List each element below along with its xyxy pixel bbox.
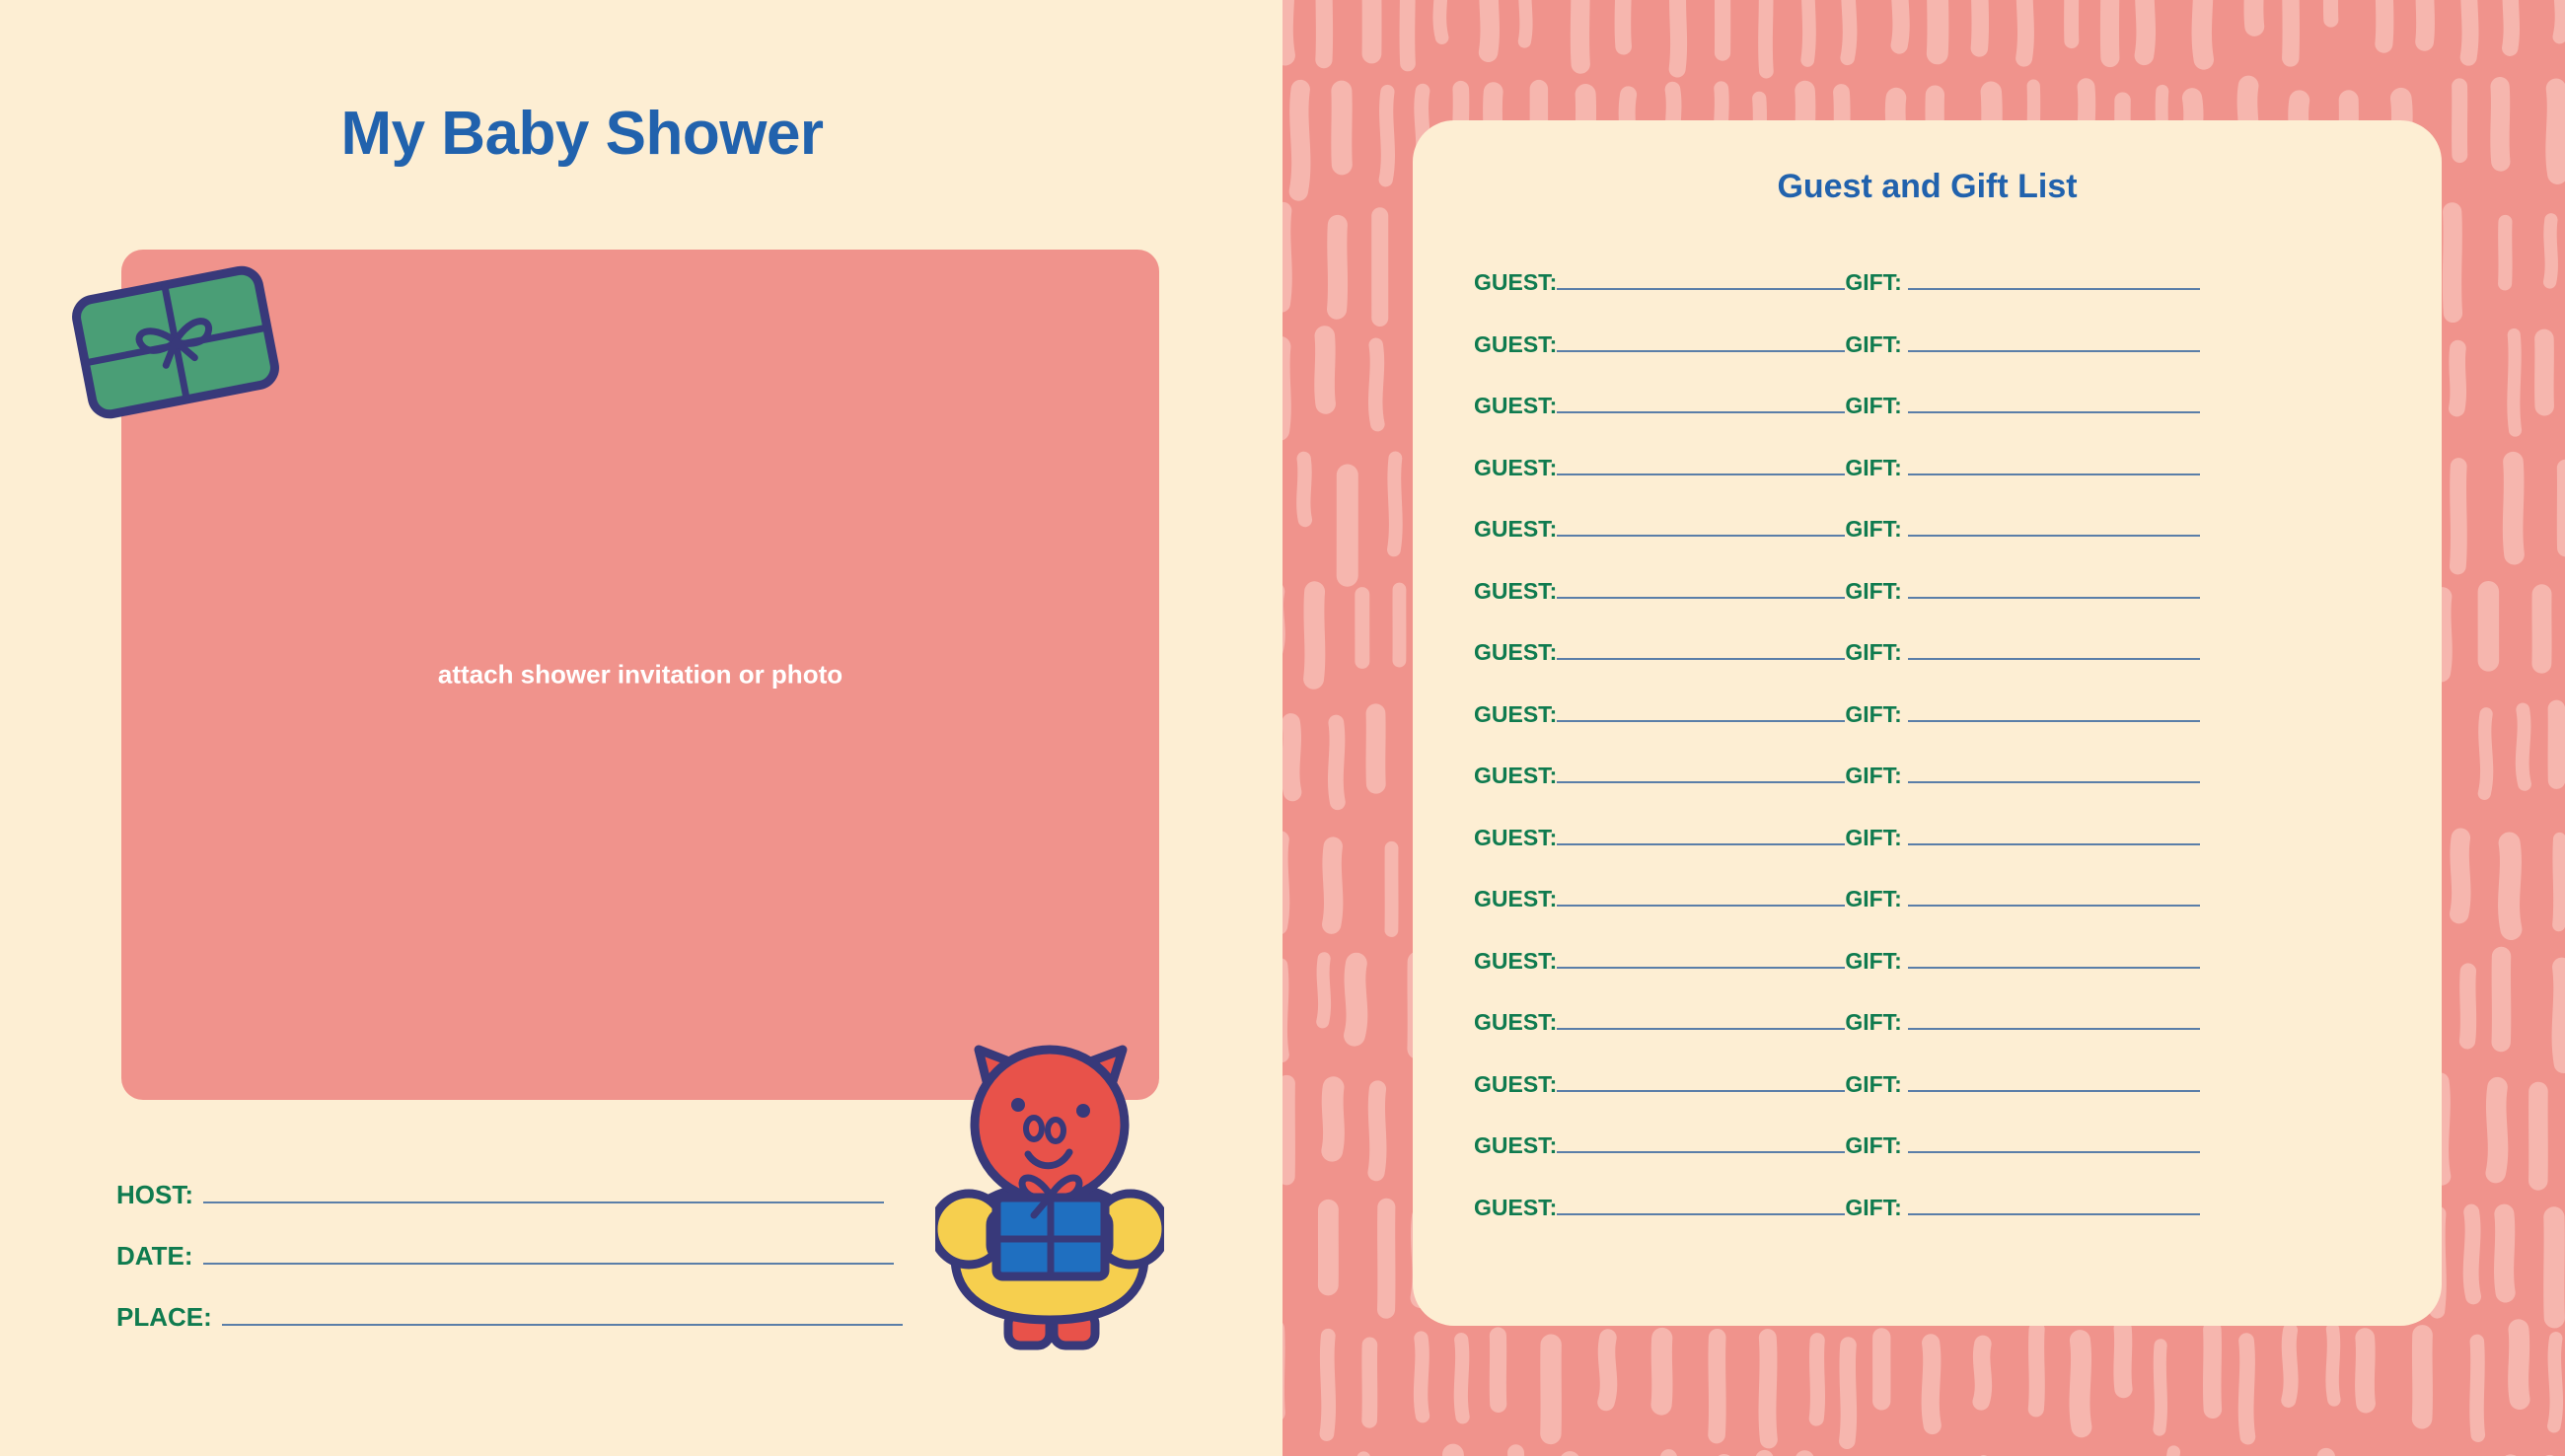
guest-gift-row: GUEST:GIFT: xyxy=(1474,947,2391,1009)
guest-gift-row: GUEST:GIFT: xyxy=(1474,577,2391,639)
host-input-line[interactable] xyxy=(203,1180,884,1203)
guest-input-line[interactable] xyxy=(1557,1008,1845,1030)
bear-with-gift-illustration xyxy=(935,1038,1164,1363)
gift-label: GIFT: xyxy=(1845,948,1902,975)
guest-label: GUEST: xyxy=(1474,763,1557,789)
guest-input-line[interactable] xyxy=(1557,1070,1845,1092)
guest-input-line[interactable] xyxy=(1557,700,1845,722)
guest-gift-row: GUEST:GIFT: xyxy=(1474,700,2391,763)
guest-input-line[interactable] xyxy=(1557,1194,1845,1215)
guest-gift-row: GUEST:GIFT: xyxy=(1474,515,2391,577)
guest-gift-card: Guest and Gift List GUEST:GIFT:GUEST:GIF… xyxy=(1413,120,2442,1326)
left-page: My Baby Shower attach shower invitation … xyxy=(0,0,1282,1456)
gift-label: GIFT: xyxy=(1845,1009,1902,1036)
guest-gift-row: GUEST:GIFT: xyxy=(1474,1194,2391,1256)
guest-label: GUEST: xyxy=(1474,1195,1557,1221)
guest-gift-row: GUEST:GIFT: xyxy=(1474,824,2391,886)
gift-label: GIFT: xyxy=(1845,269,1902,296)
gift-input-line[interactable] xyxy=(1908,885,2200,907)
gift-input-line[interactable] xyxy=(1908,577,2200,599)
form-row-place: PLACE: xyxy=(116,1302,906,1363)
guest-input-line[interactable] xyxy=(1557,577,1845,599)
gift-input-line[interactable] xyxy=(1908,1070,2200,1092)
gift-input-line[interactable] xyxy=(1908,700,2200,722)
guest-input-line[interactable] xyxy=(1557,392,1845,413)
guest-input-line[interactable] xyxy=(1557,330,1845,352)
guest-gift-rows: GUEST:GIFT:GUEST:GIFT:GUEST:GIFT:GUEST:G… xyxy=(1474,268,2391,1255)
guest-gift-row: GUEST:GIFT: xyxy=(1474,1070,2391,1132)
guest-gift-row: GUEST:GIFT: xyxy=(1474,1008,2391,1070)
guest-label: GUEST: xyxy=(1474,1132,1557,1159)
guest-gift-list-title: Guest and Gift List xyxy=(1413,168,2442,206)
guest-label: GUEST: xyxy=(1474,269,1557,296)
gift-label: GIFT: xyxy=(1845,578,1902,605)
guest-label: GUEST: xyxy=(1474,1071,1557,1098)
host-label: HOST: xyxy=(116,1180,193,1210)
gift-input-line[interactable] xyxy=(1908,515,2200,537)
gift-label: GIFT: xyxy=(1845,393,1902,419)
gift-input-line[interactable] xyxy=(1908,330,2200,352)
gift-label: GIFT: xyxy=(1845,331,1902,358)
guest-input-line[interactable] xyxy=(1557,762,1845,783)
guest-label: GUEST: xyxy=(1474,886,1557,912)
guest-input-line[interactable] xyxy=(1557,454,1845,475)
guest-label: GUEST: xyxy=(1474,825,1557,851)
guest-gift-row: GUEST:GIFT: xyxy=(1474,638,2391,700)
guest-gift-row: GUEST:GIFT: xyxy=(1474,1131,2391,1194)
gift-label: GIFT: xyxy=(1845,516,1902,543)
guest-gift-row: GUEST:GIFT: xyxy=(1474,330,2391,393)
place-input-line[interactable] xyxy=(222,1302,903,1326)
guest-label: GUEST: xyxy=(1474,331,1557,358)
guest-gift-row: GUEST:GIFT: xyxy=(1474,762,2391,824)
guest-input-line[interactable] xyxy=(1557,947,1845,969)
guest-gift-row: GUEST:GIFT: xyxy=(1474,885,2391,947)
page-title: My Baby Shower xyxy=(0,99,1164,169)
gift-input-line[interactable] xyxy=(1908,454,2200,475)
gift-input-line[interactable] xyxy=(1908,1131,2200,1153)
guest-label: GUEST: xyxy=(1474,639,1557,666)
guest-label: GUEST: xyxy=(1474,455,1557,481)
gift-label: GIFT: xyxy=(1845,639,1902,666)
guest-label: GUEST: xyxy=(1474,393,1557,419)
guest-input-line[interactable] xyxy=(1557,515,1845,537)
gift-label: GIFT: xyxy=(1845,701,1902,728)
gift-label: GIFT: xyxy=(1845,825,1902,851)
gift-input-line[interactable] xyxy=(1908,268,2200,290)
guest-label: GUEST: xyxy=(1474,516,1557,543)
date-label: DATE: xyxy=(116,1241,193,1272)
gift-input-line[interactable] xyxy=(1908,824,2200,845)
gift-input-line[interactable] xyxy=(1908,392,2200,413)
photo-placeholder-text: attach shower invitation or photo xyxy=(121,660,1159,691)
gift-label: GIFT: xyxy=(1845,1071,1902,1098)
guest-label: GUEST: xyxy=(1474,948,1557,975)
gift-label: GIFT: xyxy=(1845,1195,1902,1221)
gift-label: GIFT: xyxy=(1845,455,1902,481)
baby-shower-spread: My Baby Shower attach shower invitation … xyxy=(0,0,2565,1456)
gift-input-line[interactable] xyxy=(1908,1194,2200,1215)
guest-gift-row: GUEST:GIFT: xyxy=(1474,268,2391,330)
guest-input-line[interactable] xyxy=(1557,824,1845,845)
event-details-form: HOST: DATE: PLACE: xyxy=(116,1180,906,1363)
gift-input-line[interactable] xyxy=(1908,1008,2200,1030)
gift-label: GIFT: xyxy=(1845,1132,1902,1159)
guest-input-line[interactable] xyxy=(1557,885,1845,907)
gift-label: GIFT: xyxy=(1845,886,1902,912)
guest-input-line[interactable] xyxy=(1557,268,1845,290)
date-input-line[interactable] xyxy=(203,1241,894,1265)
gift-input-line[interactable] xyxy=(1908,638,2200,660)
gift-input-line[interactable] xyxy=(1908,947,2200,969)
guest-input-line[interactable] xyxy=(1557,1131,1845,1153)
gift-label: GIFT: xyxy=(1845,763,1902,789)
right-page: Guest and Gift List GUEST:GIFT:GUEST:GIF… xyxy=(1282,0,2565,1456)
place-label: PLACE: xyxy=(116,1302,212,1333)
guest-gift-row: GUEST:GIFT: xyxy=(1474,392,2391,454)
guest-gift-row: GUEST:GIFT: xyxy=(1474,454,2391,516)
form-row-host: HOST: xyxy=(116,1180,906,1241)
guest-input-line[interactable] xyxy=(1557,638,1845,660)
guest-label: GUEST: xyxy=(1474,578,1557,605)
form-row-date: DATE: xyxy=(116,1241,906,1302)
guest-label: GUEST: xyxy=(1474,1009,1557,1036)
gift-input-line[interactable] xyxy=(1908,762,2200,783)
guest-label: GUEST: xyxy=(1474,701,1557,728)
